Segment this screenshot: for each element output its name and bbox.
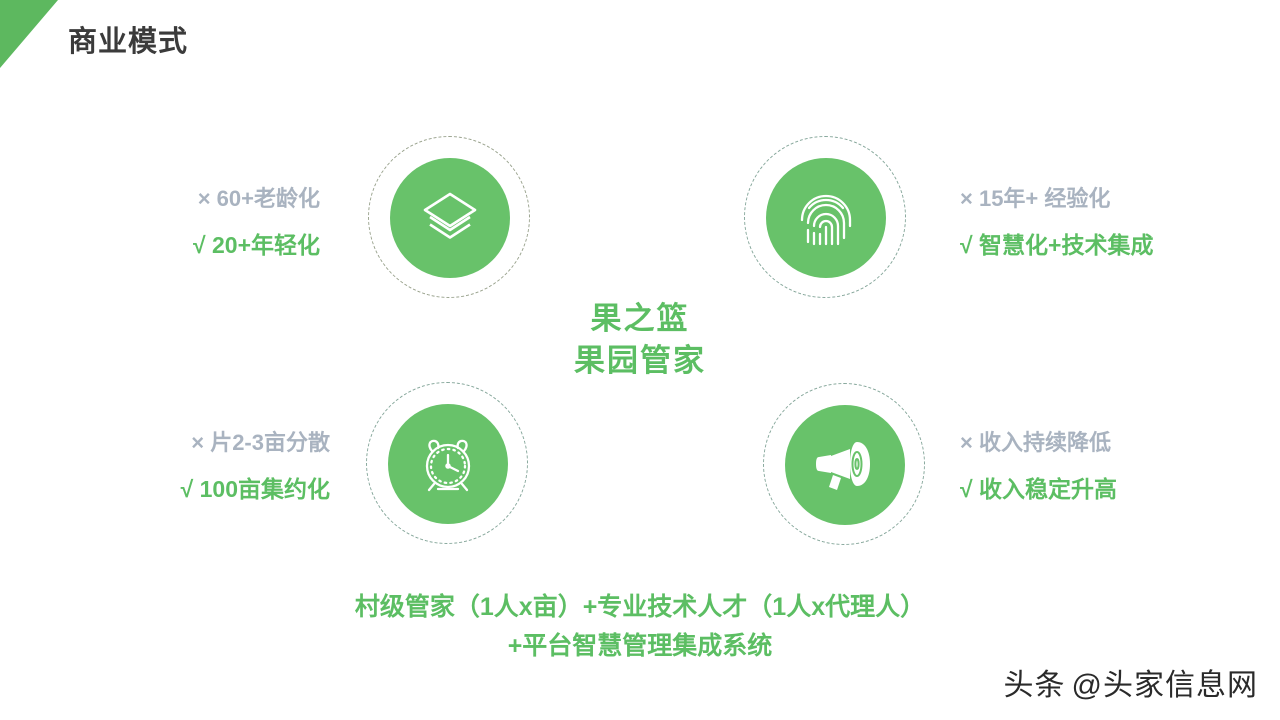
corner-triangle-decoration (0, 0, 58, 68)
positive-label: √ 智慧化+技术集成 (960, 222, 1260, 268)
positive-label: √ 100亩集约化 (20, 466, 330, 512)
watermark-platform: 头条 (1004, 669, 1066, 702)
positive-label: √ 收入稳定升高 (960, 466, 1260, 512)
negative-label: × 15年+ 经验化 (960, 176, 1260, 222)
watermark: 头条@头家信息网 (1004, 660, 1258, 704)
brand-line-1: 果之篮 (440, 298, 840, 340)
megaphone-icon (785, 405, 905, 525)
center-brand: 果之篮 果园管家 (440, 298, 840, 382)
caption-line-2: +平台智慧管理集成系统 (190, 627, 1090, 666)
alarm-clock-icon (388, 404, 508, 524)
brand-line-2: 果园管家 (440, 340, 840, 382)
node-bottom-right[interactable] (763, 383, 927, 547)
watermark-handle: @头家信息网 (1072, 669, 1258, 702)
feature-text-top-right: × 15年+ 经验化 √ 智慧化+技术集成 (960, 176, 1260, 268)
node-bottom-left[interactable] (366, 382, 530, 546)
negative-label: × 60+老龄化 (20, 176, 320, 222)
bottom-caption: 村级管家（1人x亩）+专业技术人才（1人x代理人） +平台智慧管理集成系统 (190, 588, 1090, 666)
fingerprint-icon (766, 158, 886, 278)
caption-line-1: 村级管家（1人x亩）+专业技术人才（1人x代理人） (190, 588, 1090, 627)
negative-label: × 片2-3亩分散 (20, 420, 330, 466)
feature-text-bottom-left: × 片2-3亩分散 √ 100亩集约化 (20, 420, 330, 512)
negative-label: × 收入持续降低 (960, 420, 1260, 466)
positive-label: √ 20+年轻化 (20, 222, 320, 268)
node-top-right[interactable] (744, 136, 908, 300)
node-top-left[interactable] (368, 136, 532, 300)
page-title: 商业模式 (68, 22, 188, 62)
feature-text-bottom-right: × 收入持续降低 √ 收入稳定升高 (960, 420, 1260, 512)
feature-text-top-left: × 60+老龄化 √ 20+年轻化 (20, 176, 320, 268)
slide-canvas: 商业模式 × 60+老龄化 √ 20+年轻化 (0, 0, 1280, 720)
layers-icon (390, 158, 510, 278)
